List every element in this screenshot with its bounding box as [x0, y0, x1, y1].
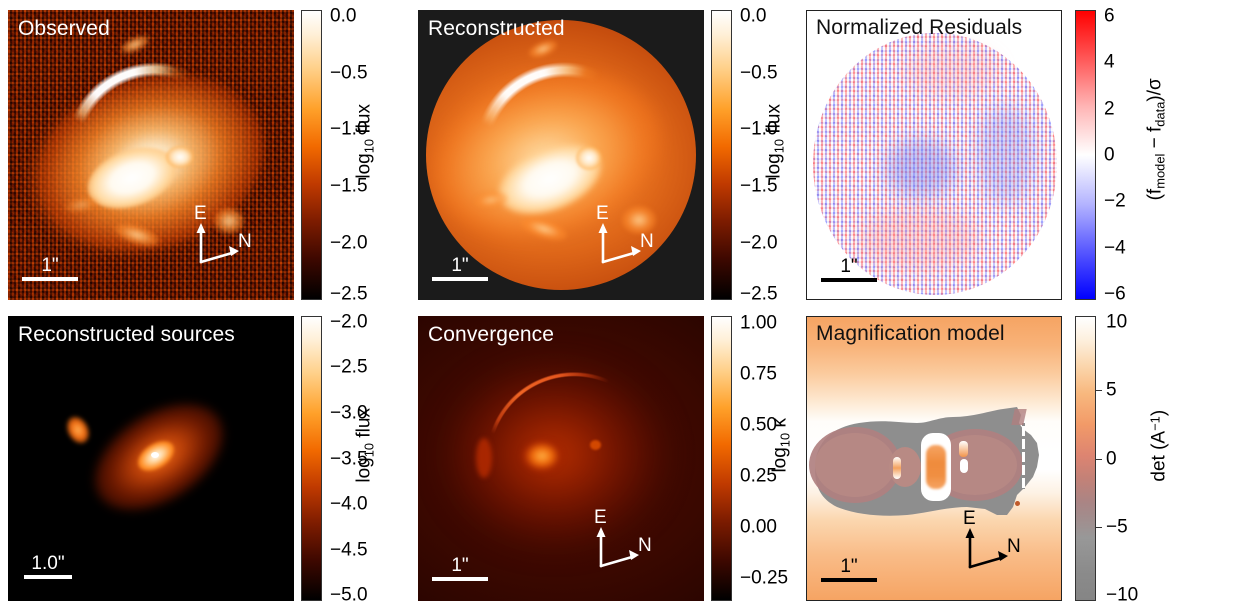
cb-tick: −2 [1104, 192, 1126, 211]
cb-tick: −2.5 [330, 358, 368, 377]
colorbar-label-observed: log10 flux [354, 81, 377, 201]
colorbar-ticks-convergence: 1.00 0.75 0.50 0.25 0.00 −0.25 [732, 316, 804, 601]
scalebar-sources: 1.0" [24, 554, 72, 579]
cb-label-log: log [354, 153, 375, 178]
cb-tick: −0.5 [330, 63, 368, 82]
panel-normalized-residuals: Normalized Residuals 1" 6 4 2 0 −2 −4 −6… [806, 10, 1062, 300]
scalebar-residuals: 1" [821, 257, 877, 282]
cb-tick: 4 [1104, 53, 1115, 72]
scalebar-label: 1" [432, 256, 488, 275]
cb-label-sub: 10 [771, 139, 786, 153]
caustic-spur-mid [959, 441, 968, 457]
compass-convergence: E N [586, 512, 660, 576]
panel-title-residuals: Normalized Residuals [816, 17, 1022, 38]
caustic-spur-mid-lower [960, 459, 968, 473]
scalebar-line [22, 277, 78, 281]
scalebar-label: 1" [22, 256, 78, 275]
cb-label-sub: 10 [361, 139, 376, 153]
colorbar-residuals [1075, 10, 1096, 300]
cb-label-log: log [770, 447, 791, 472]
residual-positive-upper [903, 47, 999, 95]
sources-image: Reconstructed sources 1.0" [8, 316, 294, 601]
residual-negative-core [885, 139, 957, 197]
compass-label-up: E [594, 508, 607, 527]
compass-label-right: N [638, 536, 652, 555]
panel-reconstructed-sources: Reconstructed sources 1.0" −2.0 −2.5 −3.… [8, 316, 294, 601]
compass-label-up: E [963, 509, 976, 528]
cb-tickmark [1096, 459, 1102, 460]
scalebar-line [432, 277, 488, 281]
cb-label-log: log [764, 153, 785, 178]
cb-label-rest: κ [770, 418, 791, 433]
scalebar-line [821, 578, 877, 582]
caustic-bottom-dot [1015, 501, 1020, 506]
cb-tick: 0.0 [740, 6, 766, 25]
cb-tick: −2.0 [330, 312, 368, 331]
cb-tick: −10 [1106, 586, 1138, 605]
cb-label-data: data [1152, 102, 1167, 127]
colorbar-observed [301, 10, 322, 300]
cb-label-sigma: )/σ [1145, 78, 1166, 101]
panel-title-convergence: Convergence [428, 324, 554, 345]
cb-tick: 6 [1104, 6, 1115, 25]
scalebar-reconstructed: 1" [432, 256, 488, 281]
cb-label-open: (f [1145, 189, 1166, 201]
compass-observed: E N [186, 208, 260, 272]
convergence-image: Convergence 1" E N [418, 316, 704, 601]
cb-tickmark [1096, 527, 1102, 528]
reconstructed-image: Reconstructed 1" E N [418, 10, 704, 300]
panel-observed: Observed 1" E N 0.0 −0.5 −1.0 −1.5 −2.0 … [8, 10, 294, 300]
scalebar-line [24, 575, 72, 579]
cb-label-minus: − f [1145, 127, 1166, 154]
cb-tick: 0 [1106, 449, 1117, 468]
colorbar-label-reconstructed: log10 flux [764, 81, 787, 201]
residual-positive-lower [859, 209, 979, 269]
source-secondary-clump [63, 413, 94, 447]
cb-label-rest: flux [764, 104, 785, 139]
residual-negative-right [977, 107, 1035, 203]
cb-tick: −4.5 [330, 540, 368, 559]
scalebar-label: 1.0" [24, 554, 72, 573]
cb-label-rest: flux [354, 408, 375, 443]
scalebar-observed: 1" [22, 256, 78, 281]
cb-label-rest: ) [1149, 410, 1170, 416]
panel-reconstructed: Reconstructed 1" E N 0.0 −0.5 −1.0 −1.5 … [418, 10, 704, 300]
scalebar-convergence: 1" [432, 556, 488, 581]
colorbar-sources [301, 316, 322, 601]
cb-tick: 1.00 [740, 314, 777, 333]
panel-title-magnification: Magnification model [816, 323, 1005, 344]
magnification-image: Magnification model 1" E N [806, 316, 1062, 601]
compass-label-right: N [1007, 537, 1021, 556]
cb-label-sub: 10 [777, 433, 792, 447]
cb-tick: −2.0 [740, 234, 778, 253]
scalebar-magnification: 1" [821, 557, 877, 582]
scalebar-line [432, 577, 488, 581]
scalebar-line [821, 278, 877, 282]
cb-label-sub: 10 [361, 443, 376, 457]
cb-tick: 5 [1106, 381, 1117, 400]
cb-label-model: model [1152, 154, 1167, 189]
colorbar-reconstructed [711, 10, 732, 300]
compass-label-right: N [238, 232, 252, 251]
observed-image: Observed 1" E N [8, 10, 294, 300]
cb-tick: −5.0 [330, 586, 368, 605]
source-nucleus [151, 452, 159, 458]
compass-label-up: E [194, 204, 207, 223]
cb-label-rest: flux [354, 104, 375, 139]
colorbar-magnification [1075, 316, 1096, 601]
cb-tick: 0.75 [740, 365, 777, 384]
residuals-image: Normalized Residuals 1" [806, 10, 1062, 300]
scalebar-label: 1" [821, 557, 877, 576]
cb-tick: −2.5 [330, 285, 368, 304]
cb-tick: −2.0 [330, 234, 368, 253]
cb-tick: 0.0 [330, 6, 356, 25]
cb-tick: −5 [1106, 517, 1128, 536]
caustic-spur-left [893, 457, 901, 479]
colorbar-ticks-residuals: 6 4 2 0 −2 −4 −6 [1096, 10, 1146, 300]
cb-label-log: log [354, 457, 375, 482]
scalebar-label: 1" [821, 257, 877, 276]
cb-tick: −0.5 [740, 63, 778, 82]
cb-tick: 2 [1104, 99, 1115, 118]
cb-tick: 0 [1104, 146, 1115, 165]
colorbar-label-magnification: det (A−1) [1147, 371, 1170, 521]
colorbar-label-residuals: (fmodel − fdata)/σ [1145, 54, 1168, 224]
panel-title-observed: Observed [18, 18, 110, 39]
central-caustic-core [926, 445, 946, 489]
panel-convergence: Convergence 1" E N 1.00 0.75 0.50 0.25 0… [418, 316, 704, 601]
colorbar-label-convergence: log10 κ [770, 385, 793, 505]
cb-label-det: det (A [1149, 431, 1170, 482]
compass-label-up: E [596, 204, 609, 223]
compass-reconstructed: E N [588, 208, 662, 272]
panel-title-sources: Reconstructed sources [18, 324, 235, 345]
panel-title-reconstructed: Reconstructed [428, 18, 565, 39]
cb-tick: −0.25 [740, 568, 788, 587]
cb-tick: 10 [1106, 312, 1127, 331]
cb-tickmark [1096, 390, 1102, 391]
scalebar-label: 1" [432, 556, 488, 575]
cb-tick: −6 [1104, 285, 1126, 304]
colorbar-convergence [711, 316, 732, 601]
cb-tick: −2.5 [740, 285, 778, 304]
panel-magnification-model: Magnification model 1" E N 10 5 0 −5 −10 [806, 316, 1062, 601]
cb-label-sup: −1 [1147, 416, 1162, 431]
compass-magnification: E N [955, 513, 1029, 577]
colorbar-label-sources: log10 flux [354, 385, 377, 505]
cb-tick: 0.00 [740, 517, 777, 536]
cb-tick: −4 [1104, 238, 1126, 257]
compass-label-right: N [640, 232, 654, 251]
